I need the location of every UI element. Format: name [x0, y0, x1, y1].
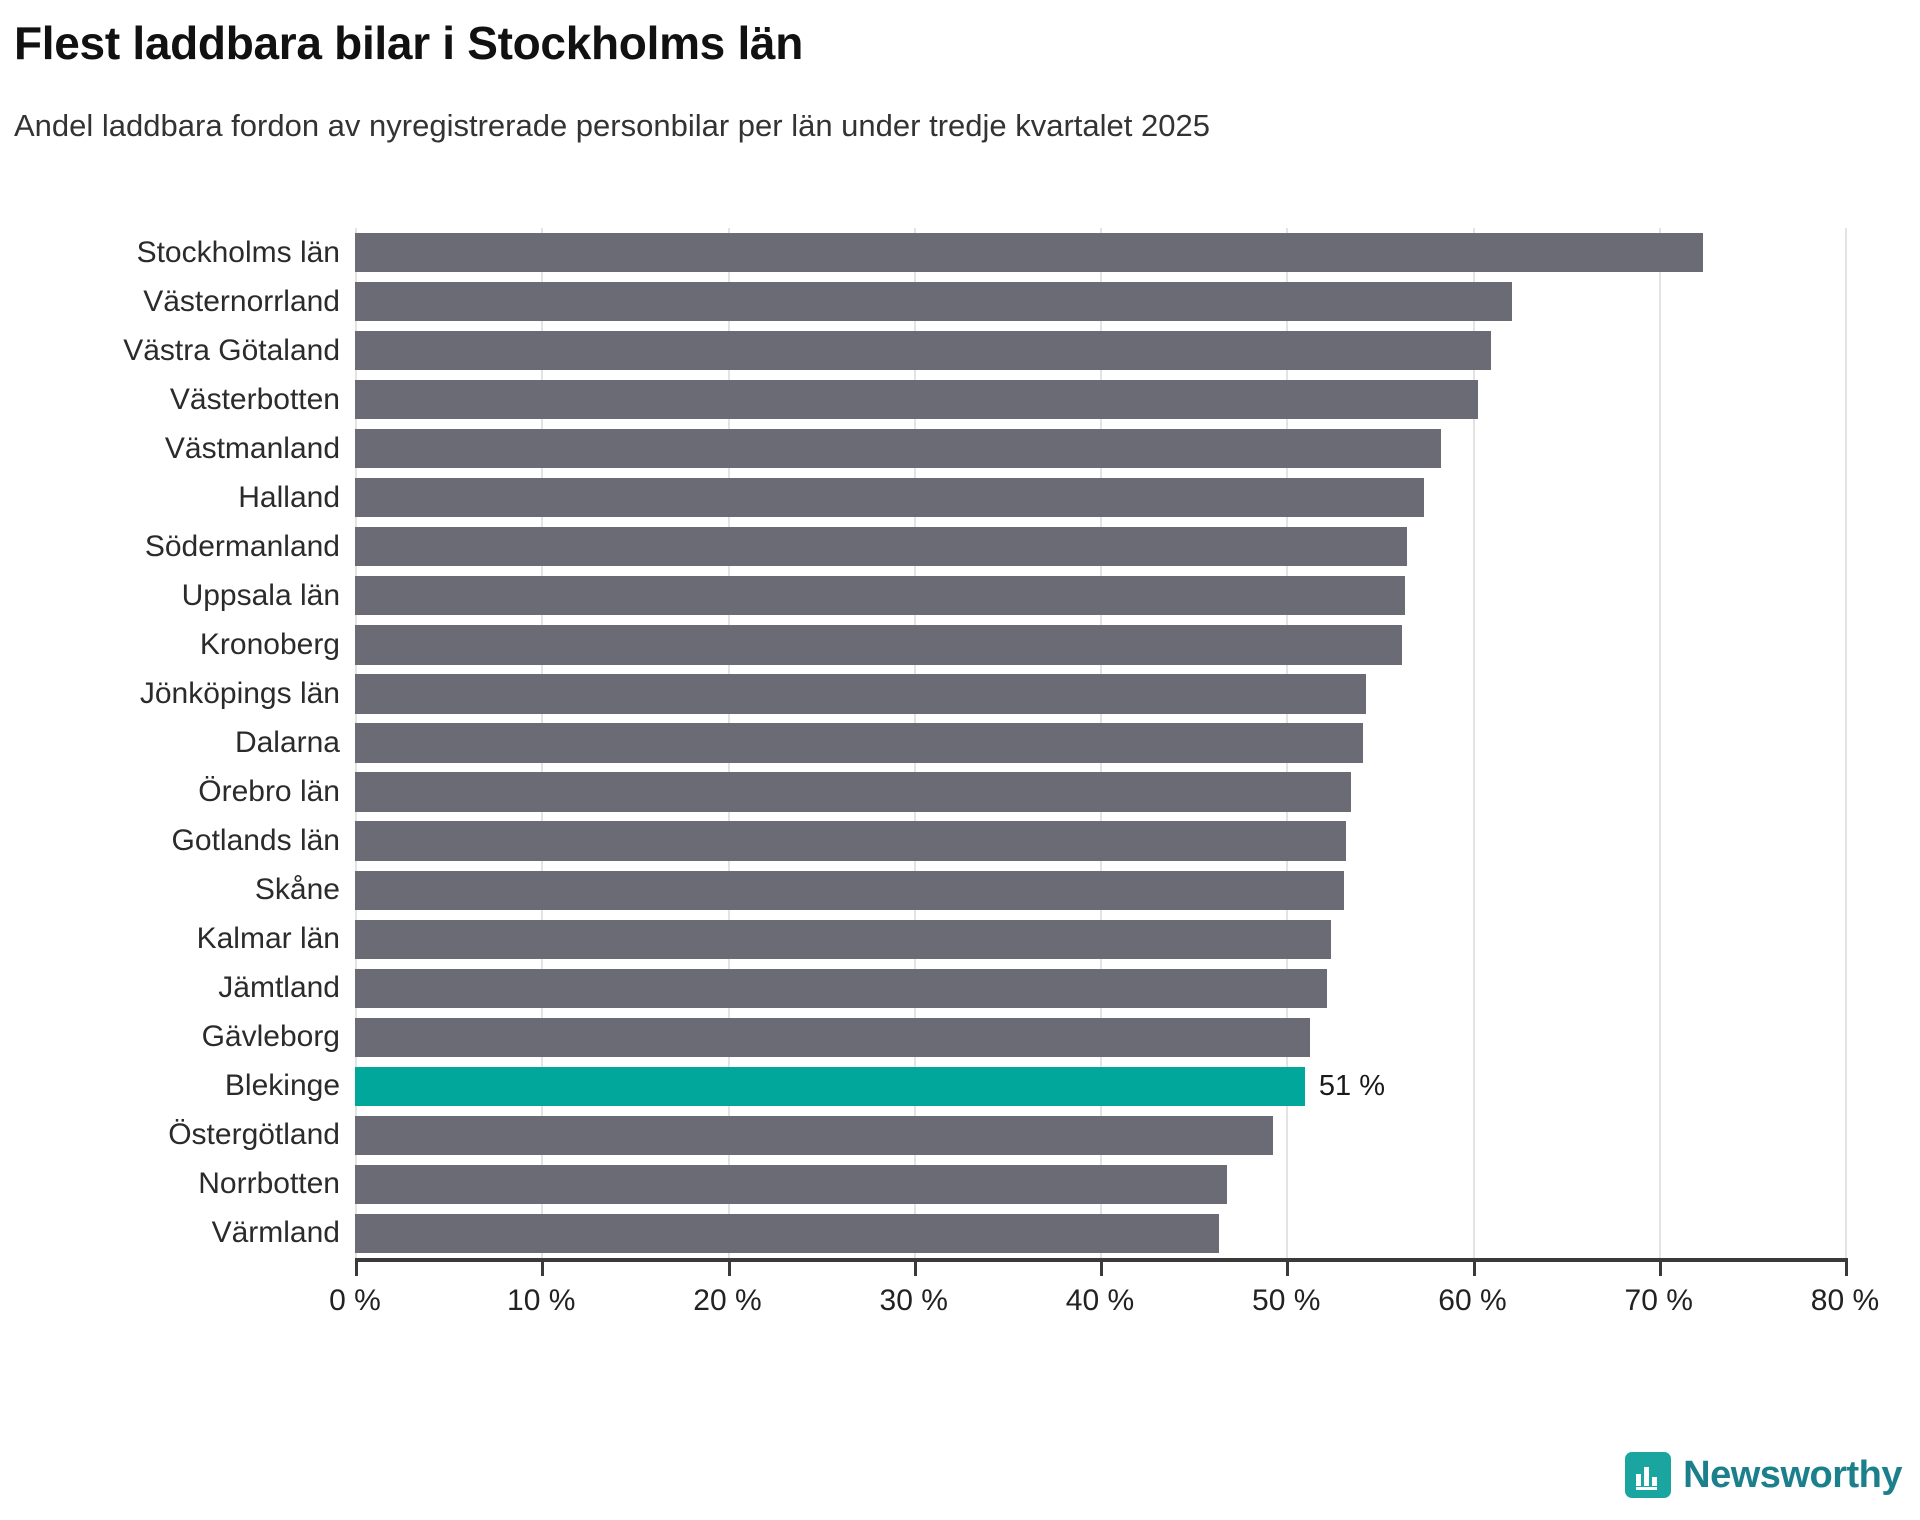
x-tick-0 — [355, 1258, 358, 1276]
bar[interactable] — [355, 380, 1478, 419]
bar-value-label: 51 % — [1319, 1072, 1385, 1101]
bar-chart: 0 %10 %20 %30 %40 %50 %60 %70 %80 %Stock… — [0, 228, 1920, 1338]
bar[interactable] — [355, 920, 1331, 959]
category-label: Blekinge — [0, 1071, 340, 1101]
x-tick-40 — [1100, 1258, 1103, 1276]
x-tick-30 — [914, 1258, 917, 1276]
bar[interactable] — [355, 969, 1327, 1008]
chart-row: Skåne — [0, 866, 1920, 915]
category-label: Dalarna — [0, 728, 340, 758]
bar-chart-logo-icon — [1625, 1452, 1671, 1498]
category-label: Stockholms län — [0, 238, 340, 268]
chart-row: Värmland — [0, 1209, 1920, 1258]
chart-row: Kalmar län — [0, 915, 1920, 964]
chart-row: Norrbotten — [0, 1160, 1920, 1209]
chart-row: Halland — [0, 473, 1920, 522]
bar[interactable] — [355, 233, 1703, 272]
category-label: Gotlands län — [0, 826, 340, 856]
bar[interactable] — [355, 1018, 1310, 1057]
category-label: Jämtland — [0, 973, 340, 1003]
category-label: Örebro län — [0, 777, 340, 807]
category-label: Norrbotten — [0, 1169, 340, 1199]
category-label: Jönköpings län — [0, 679, 340, 709]
x-tick-label: 20 % — [693, 1284, 761, 1318]
x-tick-10 — [541, 1258, 544, 1276]
x-tick-60 — [1473, 1258, 1476, 1276]
bar[interactable] — [355, 821, 1346, 860]
bar[interactable] — [355, 772, 1351, 811]
chart-row: Västra Götaland — [0, 326, 1920, 375]
x-tick-label: 60 % — [1438, 1284, 1506, 1318]
chart-row: Örebro län — [0, 768, 1920, 817]
x-tick-label: 70 % — [1625, 1284, 1693, 1318]
chart-row: Blekinge51 % — [0, 1062, 1920, 1111]
bar-highlighted[interactable] — [355, 1067, 1305, 1106]
footer-branding: Newsworthy — [1625, 1452, 1902, 1498]
page-title: Flest laddbara bilar i Stockholms län — [14, 16, 803, 70]
category-label: Skåne — [0, 875, 340, 905]
chart-row: Kronoberg — [0, 620, 1920, 669]
x-tick-20 — [728, 1258, 731, 1276]
bar[interactable] — [355, 871, 1344, 910]
chart-row: Gävleborg — [0, 1013, 1920, 1062]
x-tick-80 — [1845, 1258, 1848, 1276]
x-tick-50 — [1286, 1258, 1289, 1276]
category-label: Uppsala län — [0, 581, 340, 611]
chart-row: Gotlands län — [0, 817, 1920, 866]
bar[interactable] — [355, 429, 1441, 468]
bar[interactable] — [355, 1116, 1273, 1155]
x-tick-label: 0 % — [329, 1284, 381, 1318]
bar[interactable] — [355, 1214, 1219, 1253]
category-label: Kalmar län — [0, 924, 340, 954]
chart-row: Jönköpings län — [0, 669, 1920, 718]
bar[interactable] — [355, 625, 1402, 664]
bar[interactable] — [355, 527, 1407, 566]
bar[interactable] — [355, 331, 1491, 370]
x-tick-label: 80 % — [1811, 1284, 1879, 1318]
chart-row: Västmanland — [0, 424, 1920, 473]
category-label: Västerbotten — [0, 385, 340, 415]
category-label: Västernorrland — [0, 287, 340, 317]
brand-name: Newsworthy — [1683, 1454, 1902, 1497]
category-label: Östergötland — [0, 1120, 340, 1150]
chart-row: Dalarna — [0, 718, 1920, 767]
bar[interactable] — [355, 723, 1363, 762]
chart-row: Södermanland — [0, 522, 1920, 571]
x-tick-70 — [1659, 1258, 1662, 1276]
bar[interactable] — [355, 674, 1366, 713]
category-label: Halland — [0, 483, 340, 513]
chart-row: Jämtland — [0, 964, 1920, 1013]
category-label: Värmland — [0, 1218, 340, 1248]
chart-page: Flest laddbara bilar i Stockholms län An… — [0, 0, 1920, 1520]
chart-row: Uppsala län — [0, 571, 1920, 620]
page-subtitle: Andel laddbara fordon av nyregistrerade … — [14, 108, 1210, 144]
bar[interactable] — [355, 1165, 1227, 1204]
category-label: Västra Götaland — [0, 336, 340, 366]
bar[interactable] — [355, 282, 1512, 321]
chart-row: Västerbotten — [0, 375, 1920, 424]
category-label: Södermanland — [0, 532, 340, 562]
category-label: Gävleborg — [0, 1022, 340, 1052]
category-label: Västmanland — [0, 434, 340, 464]
chart-row: Västernorrland — [0, 277, 1920, 326]
chart-row: Stockholms län — [0, 228, 1920, 277]
bar[interactable] — [355, 576, 1405, 615]
x-tick-label: 30 % — [880, 1284, 948, 1318]
bar[interactable] — [355, 478, 1424, 517]
x-tick-label: 10 % — [507, 1284, 575, 1318]
category-label: Kronoberg — [0, 630, 340, 660]
chart-row: Östergötland — [0, 1111, 1920, 1160]
x-tick-label: 40 % — [1066, 1284, 1134, 1318]
x-tick-label: 50 % — [1252, 1284, 1320, 1318]
